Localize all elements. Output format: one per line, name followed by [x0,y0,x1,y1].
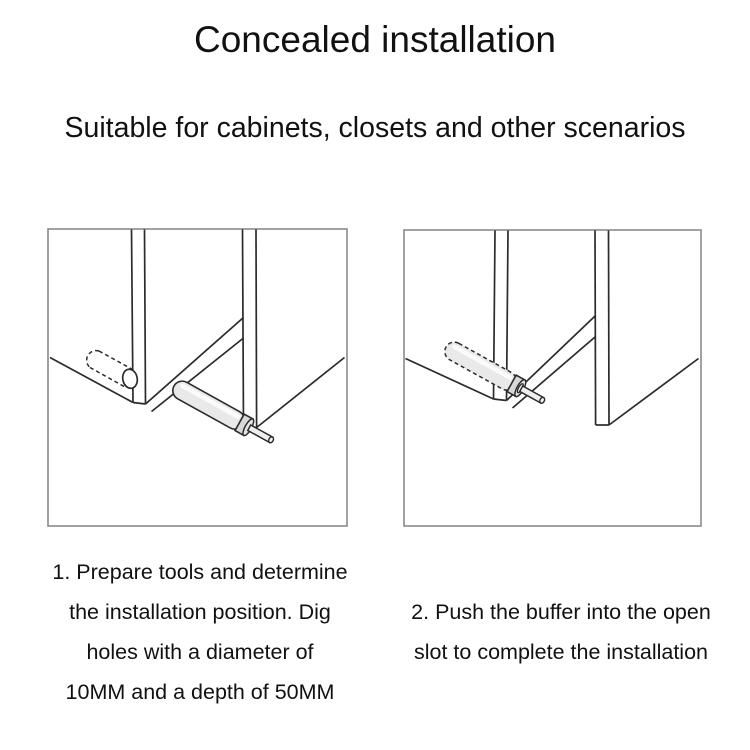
caption-line: the installation position. Dig [10,592,390,632]
step-2-illustration [403,229,702,527]
installation-instruction-page: Concealed installation Suitable for cabi… [0,0,750,750]
step-2-diagram [403,229,702,527]
side-panel-right-edge [256,230,257,428]
caption-line: holes with a diameter of [10,632,390,672]
step-1-illustration [47,228,348,527]
door-panel-outer-edge [145,230,146,405]
step-1-diagram [47,228,348,527]
caption-line: 1. Prepare tools and determine [10,552,390,592]
side-panel-left-edge [243,230,244,428]
caption-line: slot to complete the installation [372,632,750,672]
step-1-caption: 1. Prepare tools and determine the insta… [10,552,390,712]
caption-line: 2. Push the buffer into the open [372,592,750,632]
cabinet-frame-box [48,229,347,526]
side-panel-left-edge [595,231,596,426]
side-panel-right-edge [609,231,610,426]
step-2-caption: 2. Push the buffer into the open slot to… [372,592,750,672]
page-title: Concealed installation [0,18,750,62]
page-subtitle: Suitable for cabinets, closets and other… [0,110,750,146]
caption-line: 10MM and a depth of 50MM [10,672,390,712]
